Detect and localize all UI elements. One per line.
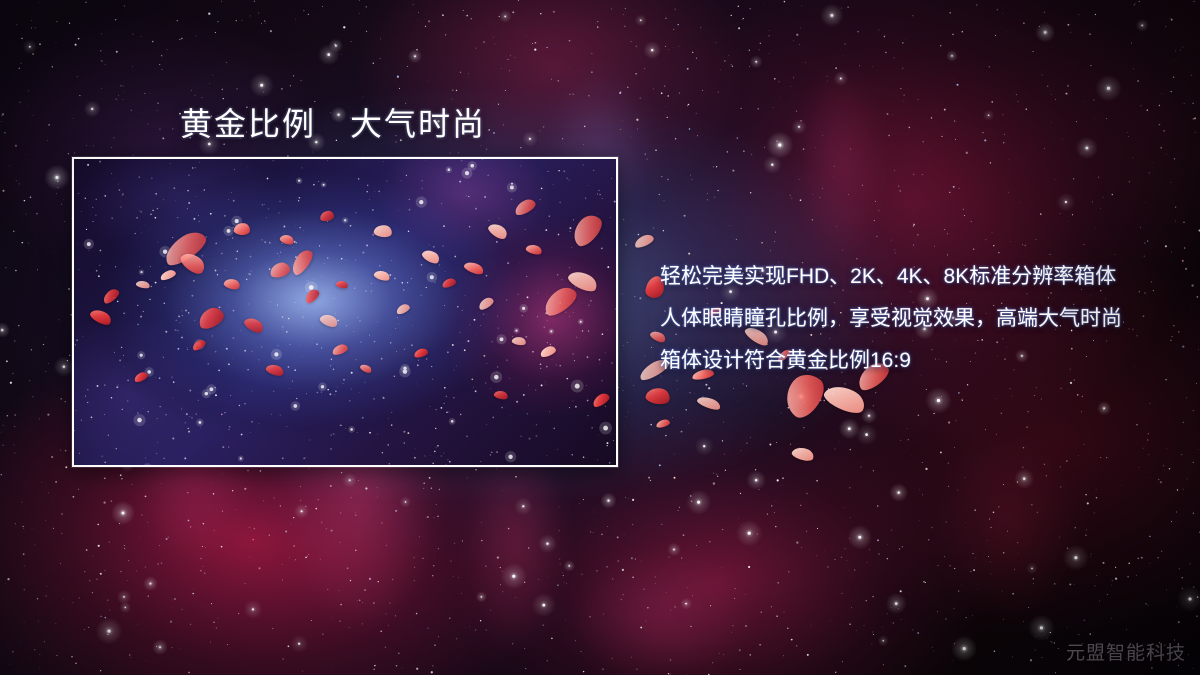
body-text-block: 轻松完美实现FHD、2K、4K、8K标准分辨率箱体 人体眼睛瞳孔比例，享受视觉效…: [660, 256, 1160, 382]
petal: [645, 386, 672, 407]
page-title: 黄金比例 大气时尚: [180, 99, 486, 145]
petal: [821, 380, 868, 418]
petal: [633, 233, 655, 250]
petal: [655, 418, 670, 428]
body-line-1: 轻松完美实现FHD、2K、4K、8K标准分辨率箱体: [660, 256, 1160, 298]
body-line-3: 箱体设计符合黄金比例16:9: [660, 340, 1160, 382]
petal: [791, 445, 816, 463]
body-line-2: 人体眼睛瞳孔比例，享受视觉效果，高端大气时尚: [660, 298, 1160, 340]
watermark: 元盟智能科技: [1066, 638, 1186, 665]
petal: [696, 394, 722, 412]
photo-starfield: [74, 159, 618, 467]
presentation-slide: 黄金比例 大气时尚 轻松完美实现FHD、2K、4K、8K标准分辨率箱体 人体眼睛…: [0, 0, 1200, 675]
framed-photo: [72, 157, 618, 467]
